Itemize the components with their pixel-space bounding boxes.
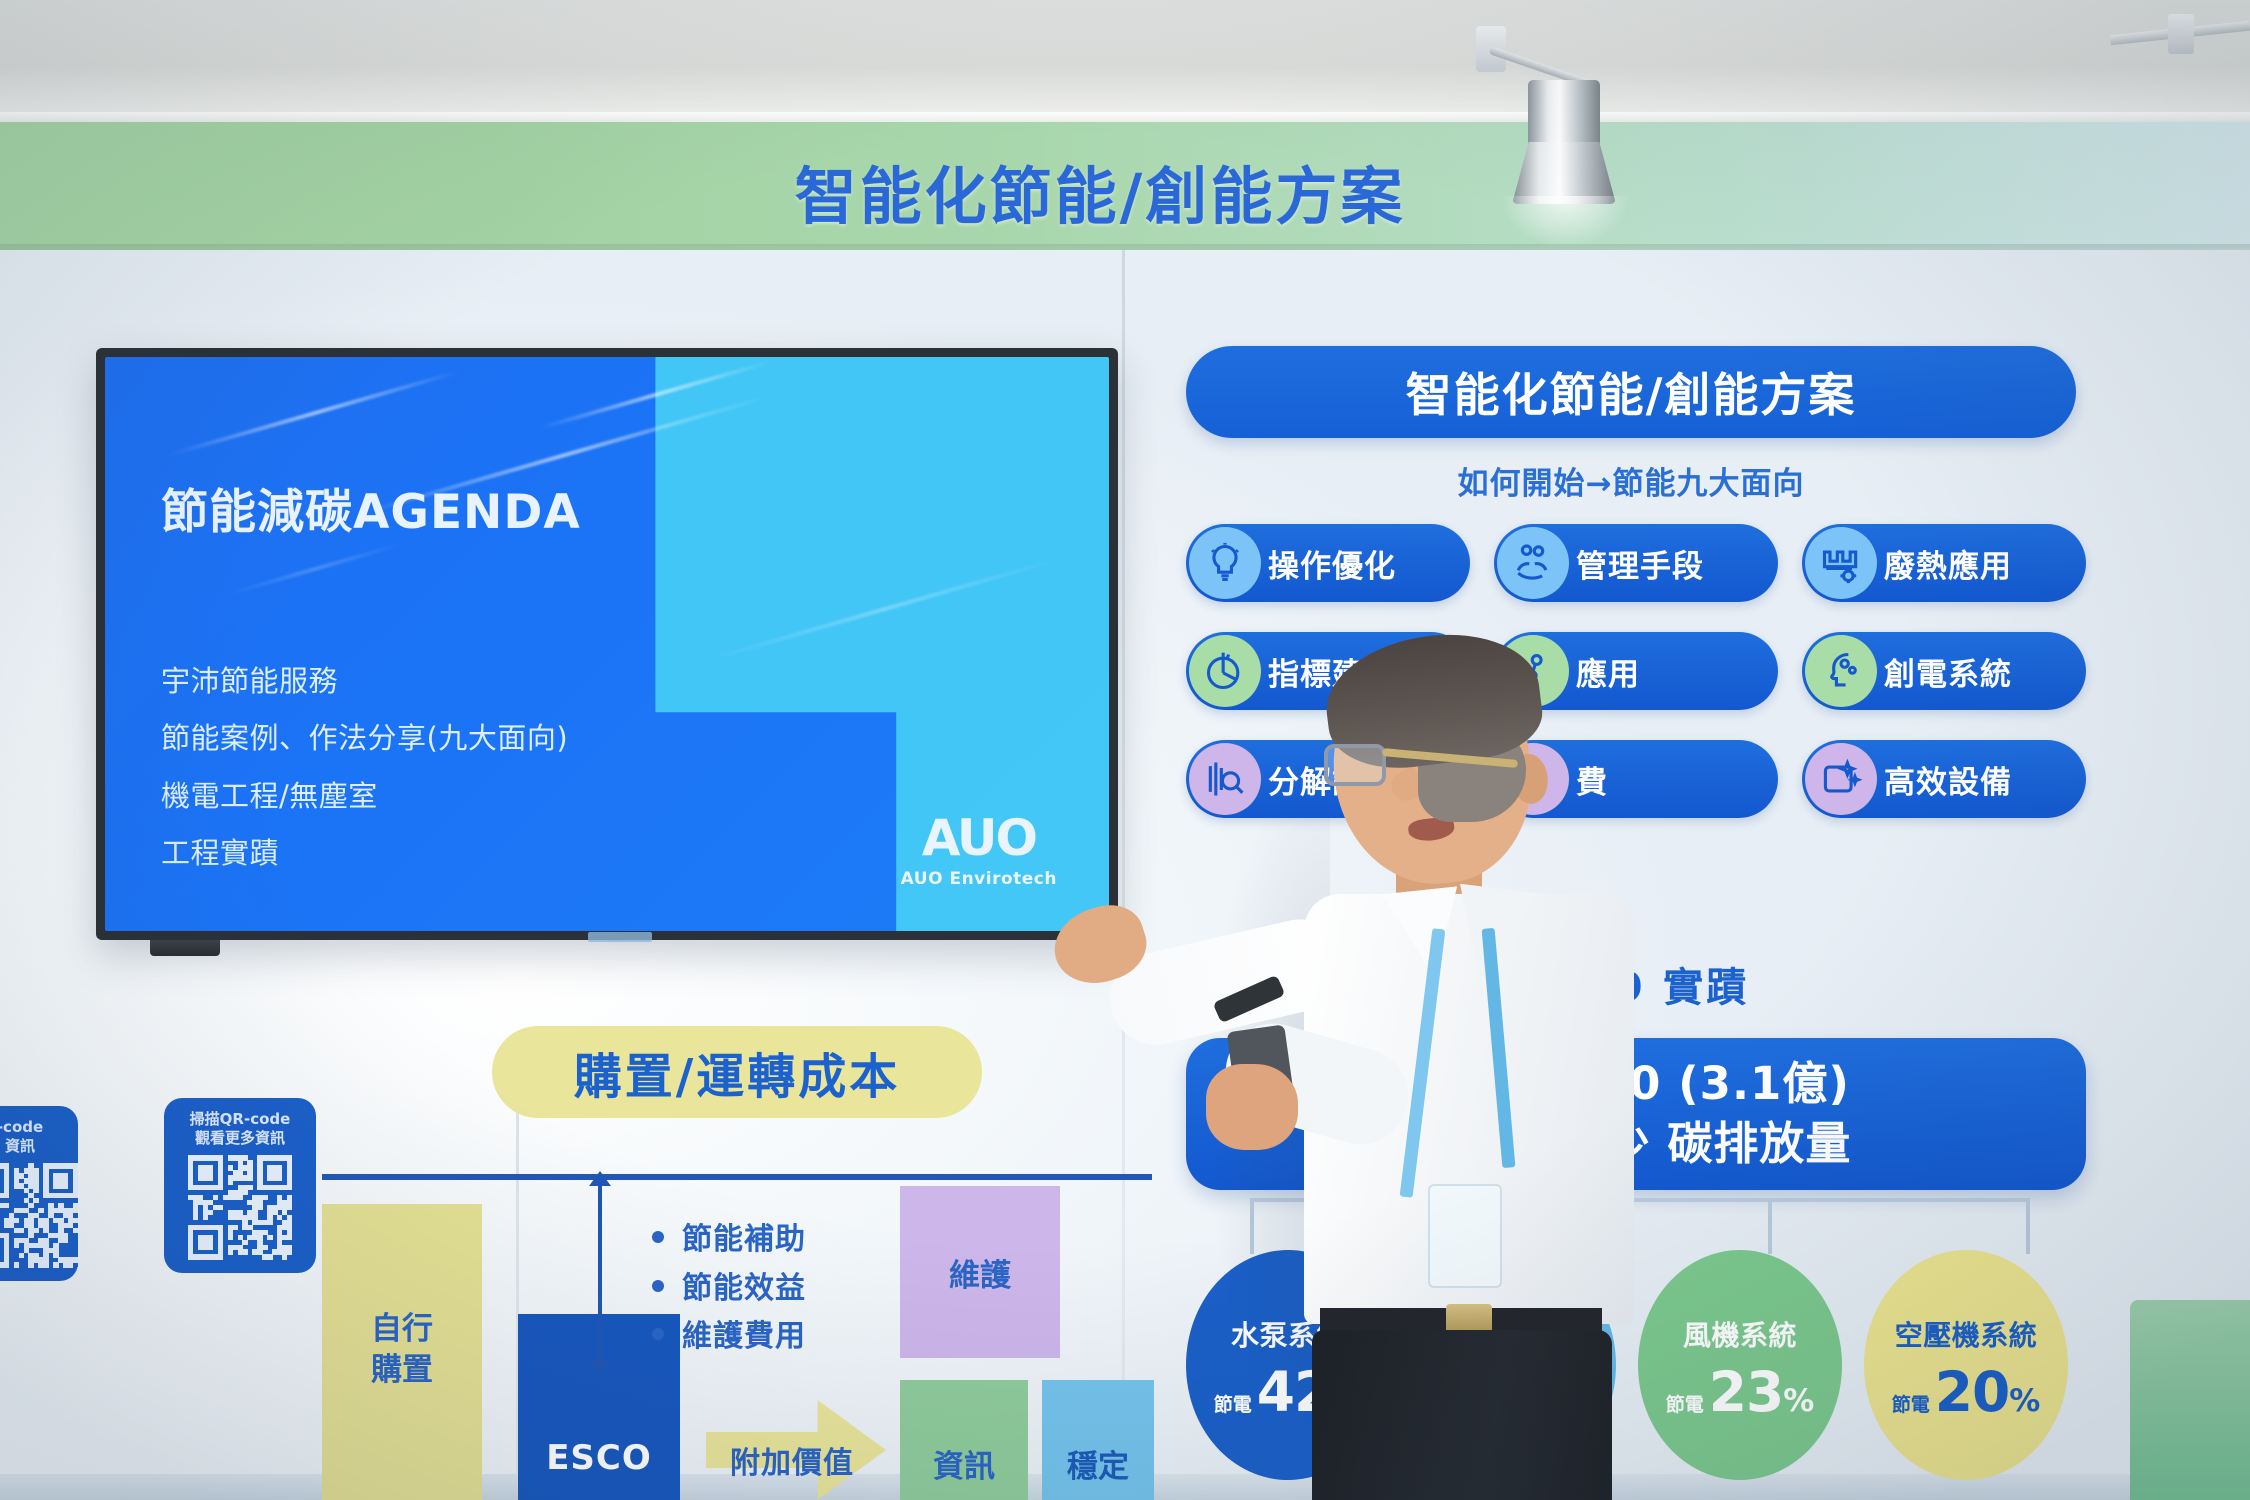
aspect-label: 管理手段 [1576, 541, 1704, 586]
presenter [1268, 636, 1698, 1500]
slide-agenda-list: 宇沛節能服務 節能案例、作法分享(九大面向) 機電工程/無塵室 工程實蹟 [161, 653, 568, 883]
saving-value: 20 [1935, 1360, 2010, 1424]
presenter-glasses [1324, 744, 1514, 788]
bar-self-label-2: 購置 [371, 1352, 433, 1388]
brain-gear-icon [1805, 635, 1877, 707]
saving-label: 節電 [1892, 1396, 1930, 1415]
qr-line-2-cut: 資訊 [5, 1137, 35, 1155]
qr-card-partial[interactable]: -code 資訊 [0, 1106, 78, 1281]
cost-comparison-chart: 自行 購置 ESCO 節能補助 節能效益 維護費用 附加價值 維護 資訊 穩定 [322, 1174, 1152, 1500]
aspect-label: 廢熱應用 [1884, 541, 2012, 586]
list-item: 工程實蹟 [161, 825, 568, 882]
cost-benefit-bullets: 節能補助 節能效益 維護費用 [652, 1216, 806, 1362]
ceiling-rail-clip [2168, 14, 2194, 54]
spotlight-head [1528, 80, 1600, 146]
tv-stand [150, 940, 220, 956]
slide-title: 節能減碳AGENDA [161, 473, 581, 542]
aspect-chip-waste-heat[interactable]: 廢熱應用 [1802, 524, 2086, 602]
aspect-chip-management-method[interactable]: 管理手段 [1494, 524, 1778, 602]
cost-title-pill: 購置/運轉成本 [492, 1026, 982, 1118]
glasses-lens [1324, 744, 1386, 786]
auo-logo: AUO AUO Envirotech [901, 809, 1057, 889]
list-item: 機電工程/無塵室 [161, 768, 568, 825]
list-item: 節能案例、作法分享(九大面向) [161, 710, 568, 767]
aspect-label: 創電系統 [1884, 649, 2012, 694]
chart-top-axis [322, 1174, 1152, 1180]
bar-self-purchase: 自行 購置 [322, 1204, 482, 1500]
presenter-trousers [1312, 1330, 1612, 1500]
added-value-label: 附加價值 [704, 1438, 880, 1482]
sparkle-panel-icon [1805, 743, 1877, 815]
tv-brand-badge [588, 932, 652, 942]
bullet-item: 節能補助 [652, 1216, 806, 1265]
pie-chart-icon [1189, 635, 1261, 707]
aspect-label: 高效設備 [1884, 757, 2012, 802]
qr-line-1-cut: -code [0, 1118, 43, 1136]
presentation-display: 節能減碳AGENDA 宇沛節能服務 節能案例、作法分享(九大面向) 機電工程/無… [96, 348, 1118, 940]
block-maintenance: 維護 [900, 1186, 1060, 1358]
aspect-label: 操作優化 [1268, 541, 1396, 586]
poster-headline-text: 智能化節能/創能方案 [1406, 359, 1857, 425]
saving-percent-sign: % [1783, 1383, 1814, 1419]
id-badge [1428, 1184, 1502, 1288]
exhibition-booth-photo: 智能化節能/創能方案 節能減碳AGENDA 宇沛節能服務 節能案例、作法分享(九… [0, 0, 2250, 1500]
saving-label: 節電 [1214, 1396, 1252, 1415]
cost-title-text: 購置/運轉成本 [574, 1037, 901, 1107]
lightbulb-icon [1189, 527, 1261, 599]
bullet-item: 節能效益 [652, 1265, 806, 1314]
aspect-chip-operation-optimization[interactable]: 操作優化 [1186, 524, 1470, 602]
saving-percent-sign: % [2009, 1383, 2040, 1419]
block-stability: 穩定 [1042, 1380, 1154, 1500]
poster-headline-pill: 智能化節能/創能方案 [1186, 346, 2076, 438]
green-floor-block [2130, 1300, 2250, 1500]
bullet-item: 維護費用 [652, 1313, 806, 1362]
aspect-chip-power-generation[interactable]: 創電系統 [1802, 632, 2086, 710]
aspect-chip-high-efficiency-equipment[interactable]: 高效設備 [1802, 740, 2086, 818]
qr-code-icon[interactable] [0, 1163, 78, 1267]
spotlight-cone [1512, 142, 1616, 204]
system-name: 風機系統 [1683, 1314, 1797, 1354]
list-item: 宇沛節能服務 [161, 653, 568, 710]
auo-logo-mark: AUO [901, 809, 1057, 867]
qr-line-1: 掃描QR-code [190, 1110, 291, 1128]
factory-gear-icon [1805, 527, 1877, 599]
magnifier-data-icon [1189, 743, 1261, 815]
bar-self-label-1: 自行 [371, 1311, 433, 1347]
system-name: 空壓機系統 [1895, 1314, 2038, 1354]
tv-screen: 節能減碳AGENDA 宇沛節能服務 節能案例、作法分享(九大面向) 機電工程/無… [105, 357, 1109, 931]
people-hand-icon [1497, 527, 1569, 599]
qr-card[interactable]: 掃描QR-code 觀看更多資訊 [164, 1098, 316, 1273]
glasses-temple [1382, 748, 1518, 768]
savings-circle-air-compressor: 空壓機系統 節電 20 % [1864, 1250, 2068, 1480]
block-information: 資訊 [900, 1380, 1028, 1500]
ceiling [0, 0, 2250, 122]
presenter-hand [1206, 1064, 1298, 1150]
qr-code-icon[interactable] [188, 1155, 292, 1259]
saving-value: 23 [1709, 1360, 1784, 1424]
spotlight-glow [1500, 196, 1630, 248]
venue-banner-title: 智能化節能/創能方案 [690, 146, 1510, 236]
savings-arrow-icon [598, 1184, 602, 1362]
qr-line-2: 觀看更多資訊 [195, 1129, 285, 1147]
bar-esco-label: ESCO [546, 1438, 652, 1478]
poster-subhead: 如何開始→節能九大面向 [1186, 458, 2076, 503]
auo-logo-subtitle: AUO Envirotech [901, 869, 1057, 889]
aspect-row-1: 操作優化 管理手段 廢熱應用 [1186, 524, 2086, 602]
